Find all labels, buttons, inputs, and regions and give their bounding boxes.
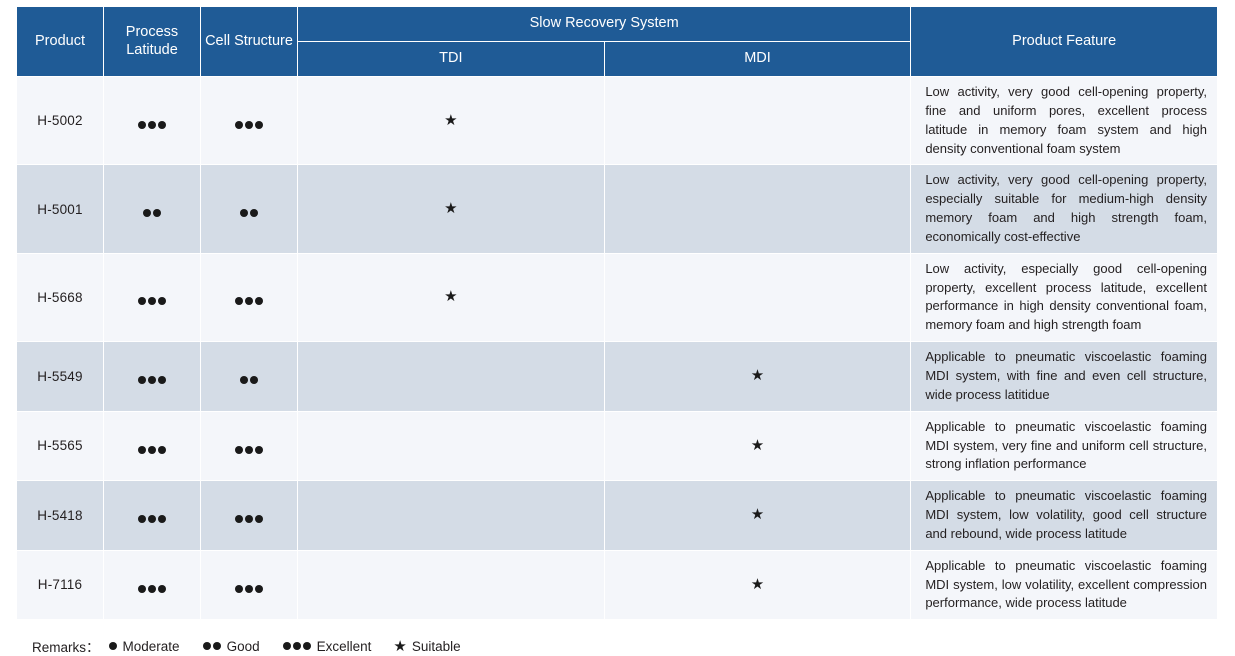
product-spec-table: Product Process Latitude Cell Structure … (16, 6, 1218, 620)
cell-mdi-suitable: ★ (605, 551, 911, 620)
cell-structure-dots (239, 376, 259, 384)
rating-dot (235, 515, 243, 523)
rating-dot (158, 376, 166, 384)
star-icon: ★ (751, 577, 764, 592)
legend-dots (202, 642, 222, 650)
cell-product-feature: Applicable to pneumatic viscoelastic foa… (911, 412, 1217, 481)
remarks-item-text: Good (227, 639, 260, 654)
cell-mdi-suitable: ★ (605, 481, 911, 550)
cell-product-feature: Low activity, especially good cell-openi… (911, 254, 1217, 341)
table-body: H-5002★Low activity, very good cell-open… (17, 77, 1217, 619)
cell-cell-structure-rating (201, 77, 297, 164)
remarks-item: Moderate (108, 639, 180, 654)
rating-dot (138, 297, 146, 305)
rating-dot (153, 209, 161, 217)
rating-dot (148, 121, 156, 129)
cell-structure-dots (234, 585, 264, 593)
rating-dot (235, 297, 243, 305)
star-icon: ★ (751, 368, 764, 383)
remarks-item: ★Suitable (393, 639, 460, 654)
cell-product-code: H-7116 (17, 551, 103, 620)
process-latitude-dots (137, 121, 167, 129)
process-latitude-dots (142, 209, 162, 217)
column-header-tdi: TDI (298, 42, 604, 76)
cell-process-latitude-rating (104, 77, 200, 164)
cell-tdi-suitable (298, 342, 604, 411)
cell-product-feature: Low activity, very good cell-opening pro… (911, 77, 1217, 164)
cell-product-feature: Applicable to pneumatic viscoelastic foa… (911, 551, 1217, 620)
process-latitude-dots (137, 515, 167, 523)
column-header-product: Product (17, 7, 103, 76)
rating-dot (148, 515, 156, 523)
cell-mdi-suitable (605, 254, 911, 341)
star-icon: ★ (444, 289, 457, 304)
process-latitude-dots (137, 446, 167, 454)
rating-dot (213, 642, 221, 650)
rating-dot (240, 209, 248, 217)
cell-process-latitude-rating (104, 165, 200, 252)
rating-dot (245, 585, 253, 593)
cell-product-code: H-5565 (17, 412, 103, 481)
table-row[interactable]: H-5668★Low activity, especially good cel… (17, 254, 1217, 341)
cell-mdi-suitable: ★ (605, 412, 911, 481)
table-row[interactable]: H-5549★Applicable to pneumatic viscoelas… (17, 342, 1217, 411)
column-header-mdi: MDI (605, 42, 911, 76)
cell-tdi-suitable (298, 551, 604, 620)
star-icon: ★ (751, 507, 764, 522)
cell-process-latitude-rating (104, 481, 200, 550)
rating-dot (293, 642, 301, 650)
cell-tdi-suitable: ★ (298, 254, 604, 341)
rating-dot (250, 376, 258, 384)
remarks-label: Remarks： (32, 636, 100, 656)
rating-dot (138, 585, 146, 593)
rating-dot (203, 642, 211, 650)
process-latitude-dots (137, 585, 167, 593)
rating-dot (283, 642, 291, 650)
cell-process-latitude-rating (104, 342, 200, 411)
cell-cell-structure-rating (201, 342, 297, 411)
rating-dot (158, 585, 166, 593)
remarks-item-text: Moderate (123, 639, 180, 654)
header-row-top: Product Process Latitude Cell Structure … (17, 7, 1217, 41)
column-header-slow-recovery-system: Slow Recovery System (298, 7, 910, 41)
rating-dot (235, 585, 243, 593)
rating-dot (250, 209, 258, 217)
rating-dot (245, 297, 253, 305)
cell-product-code: H-5002 (17, 77, 103, 164)
table-row[interactable]: H-5001★Low activity, very good cell-open… (17, 165, 1217, 252)
cell-cell-structure-rating (201, 254, 297, 341)
cell-structure-dots (234, 297, 264, 305)
rating-dot (255, 297, 263, 305)
remarks-item: Good (202, 639, 260, 654)
rating-dot (235, 121, 243, 129)
cell-product-code: H-5668 (17, 254, 103, 341)
rating-dot (245, 446, 253, 454)
remarks-item-text: Suitable (412, 639, 461, 654)
process-latitude-dots (137, 376, 167, 384)
column-header-process-latitude: Process Latitude (104, 7, 200, 76)
table-row[interactable]: H-7116★Applicable to pneumatic viscoelas… (17, 551, 1217, 620)
rating-dot (158, 297, 166, 305)
rating-dot (143, 209, 151, 217)
cell-product-code: H-5418 (17, 481, 103, 550)
rating-dot (138, 376, 146, 384)
cell-product-feature: Applicable to pneumatic viscoelastic foa… (911, 481, 1217, 550)
cell-product-code: H-5001 (17, 165, 103, 252)
table-row[interactable]: H-5565★Applicable to pneumatic viscoelas… (17, 412, 1217, 481)
cell-tdi-suitable (298, 481, 604, 550)
rating-dot (255, 515, 263, 523)
cell-process-latitude-rating (104, 254, 200, 341)
rating-dot (148, 585, 156, 593)
cell-tdi-suitable: ★ (298, 77, 604, 164)
cell-structure-dots (234, 446, 264, 454)
rating-dot (255, 446, 263, 454)
rating-dot (109, 642, 117, 650)
cell-mdi-suitable (605, 77, 911, 164)
rating-dot (148, 376, 156, 384)
rating-dot (303, 642, 311, 650)
star-icon: ★ (444, 113, 457, 128)
rating-dot (245, 515, 253, 523)
cell-product-code: H-5549 (17, 342, 103, 411)
remarks-item: Excellent (282, 639, 372, 654)
remarks-item-text: Excellent (317, 639, 372, 654)
rating-dot (255, 121, 263, 129)
cell-structure-dots (234, 121, 264, 129)
star-icon: ★ (393, 639, 406, 654)
cell-process-latitude-rating (104, 551, 200, 620)
rating-dot (245, 121, 253, 129)
rating-dot (158, 121, 166, 129)
process-latitude-dots (137, 297, 167, 305)
column-header-cell-structure: Cell Structure (201, 7, 297, 76)
rating-dot (158, 446, 166, 454)
rating-dot (158, 515, 166, 523)
star-icon: ★ (751, 438, 764, 453)
cell-cell-structure-rating (201, 165, 297, 252)
cell-mdi-suitable (605, 165, 911, 252)
cell-product-feature: Low activity, very good cell-opening pro… (911, 165, 1217, 252)
cell-process-latitude-rating (104, 412, 200, 481)
cell-tdi-suitable: ★ (298, 165, 604, 252)
star-icon: ★ (444, 201, 457, 216)
rating-dot (138, 515, 146, 523)
rating-dot (138, 121, 146, 129)
cell-tdi-suitable (298, 412, 604, 481)
remarks-legend: Remarks： ModerateGoodExcellent★Suitable (32, 636, 1218, 656)
rating-dot (255, 585, 263, 593)
table-header: Product Process Latitude Cell Structure … (17, 7, 1217, 76)
cell-cell-structure-rating (201, 551, 297, 620)
legend-dots (282, 642, 312, 650)
cell-mdi-suitable: ★ (605, 342, 911, 411)
rating-dot (138, 446, 146, 454)
cell-structure-dots (234, 515, 264, 523)
rating-dot (240, 376, 248, 384)
cell-cell-structure-rating (201, 481, 297, 550)
cell-structure-dots (239, 209, 259, 217)
legend-dots (108, 642, 118, 650)
rating-dot (148, 446, 156, 454)
column-header-product-feature: Product Feature (911, 7, 1217, 76)
rating-dot (148, 297, 156, 305)
table-row[interactable]: H-5418★Applicable to pneumatic viscoelas… (17, 481, 1217, 550)
cell-product-feature: Applicable to pneumatic viscoelastic foa… (911, 342, 1217, 411)
cell-cell-structure-rating (201, 412, 297, 481)
rating-dot (235, 446, 243, 454)
product-spec-page: Product Process Latitude Cell Structure … (0, 0, 1235, 513)
table-row[interactable]: H-5002★Low activity, very good cell-open… (17, 77, 1217, 164)
